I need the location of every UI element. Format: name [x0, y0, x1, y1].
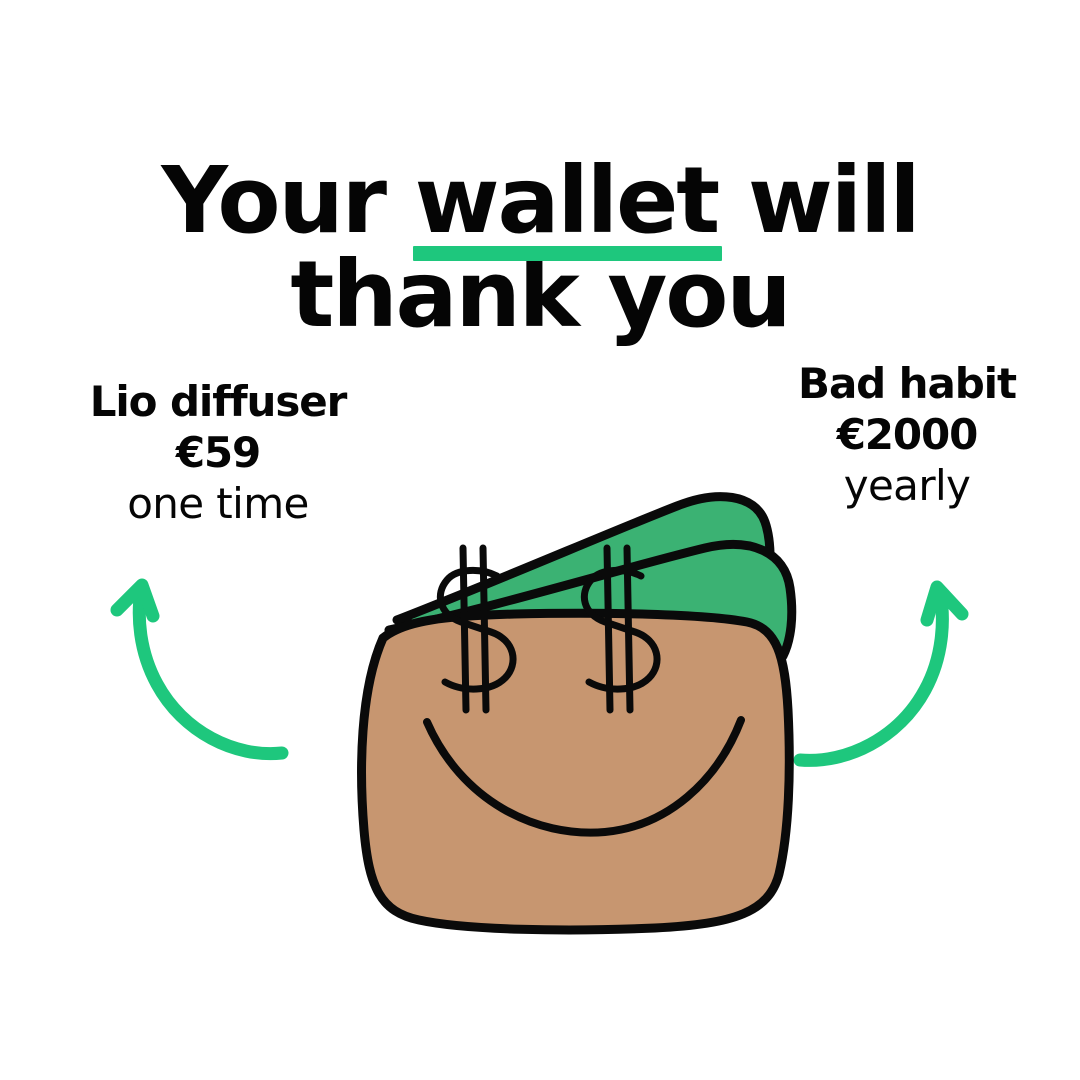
left-product-name: Lio diffuser — [38, 376, 398, 427]
price-callout-left: Lio diffuser €59 one time — [38, 376, 398, 531]
headline-emphasis-text: wallet — [415, 147, 718, 254]
right-product-period: yearly — [742, 460, 1072, 513]
headline-text-after: will — [718, 147, 919, 254]
headline-text-before: Your — [161, 147, 414, 254]
price-callout-right: Bad habit €2000 yearly — [742, 358, 1072, 513]
wallet-illustration — [285, 470, 805, 960]
right-product-name: Bad habit — [742, 358, 1072, 409]
wallet-body — [362, 613, 790, 930]
headline-underline — [413, 246, 722, 261]
headline-line-2: thank you — [0, 248, 1080, 343]
left-product-price: €59 — [38, 427, 398, 478]
headline-line-1: Your wallet will — [0, 154, 1080, 249]
headline-emphasis-wallet: wallet — [415, 154, 718, 249]
left-product-period: one time — [38, 478, 398, 531]
right-product-price: €2000 — [742, 409, 1072, 460]
curved-arrow-right-icon — [790, 572, 990, 787]
page-title: Your wallet will thank you — [0, 154, 1080, 344]
poster-canvas: Your wallet will thank you Lio diffuser … — [0, 0, 1080, 1080]
curved-arrow-left-icon — [95, 572, 310, 787]
